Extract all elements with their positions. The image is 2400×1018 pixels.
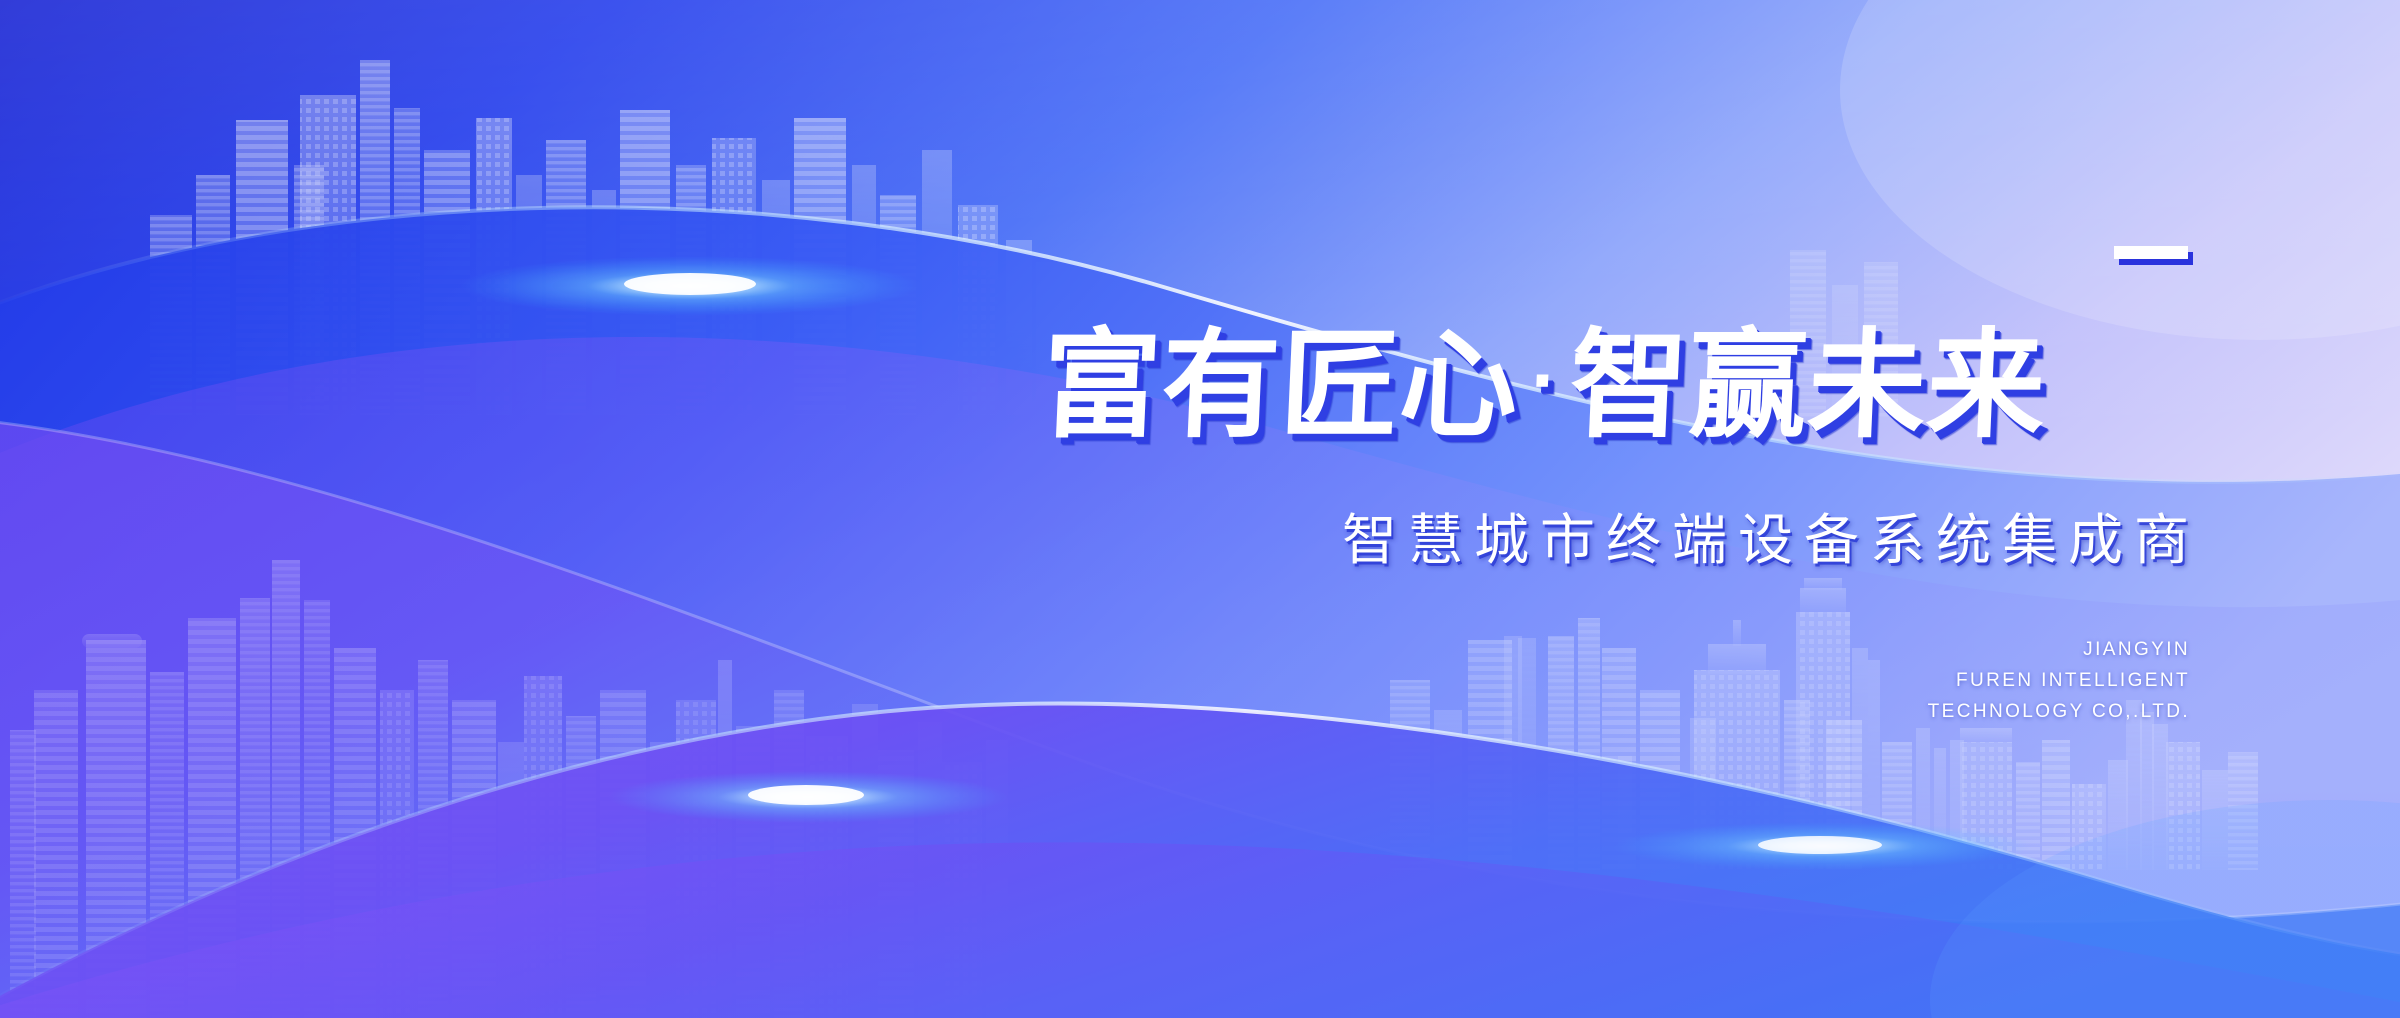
glow-point-1-core bbox=[624, 273, 756, 295]
background-artwork bbox=[0, 0, 2400, 1018]
glow-point-3-core bbox=[1758, 836, 1882, 854]
poster-canvas: 富有匠心·智赢未来 智慧城市终端设备系统集成商 JIANGYIN FUREN I… bbox=[0, 0, 2400, 1018]
glow-point-2-core bbox=[748, 785, 864, 805]
